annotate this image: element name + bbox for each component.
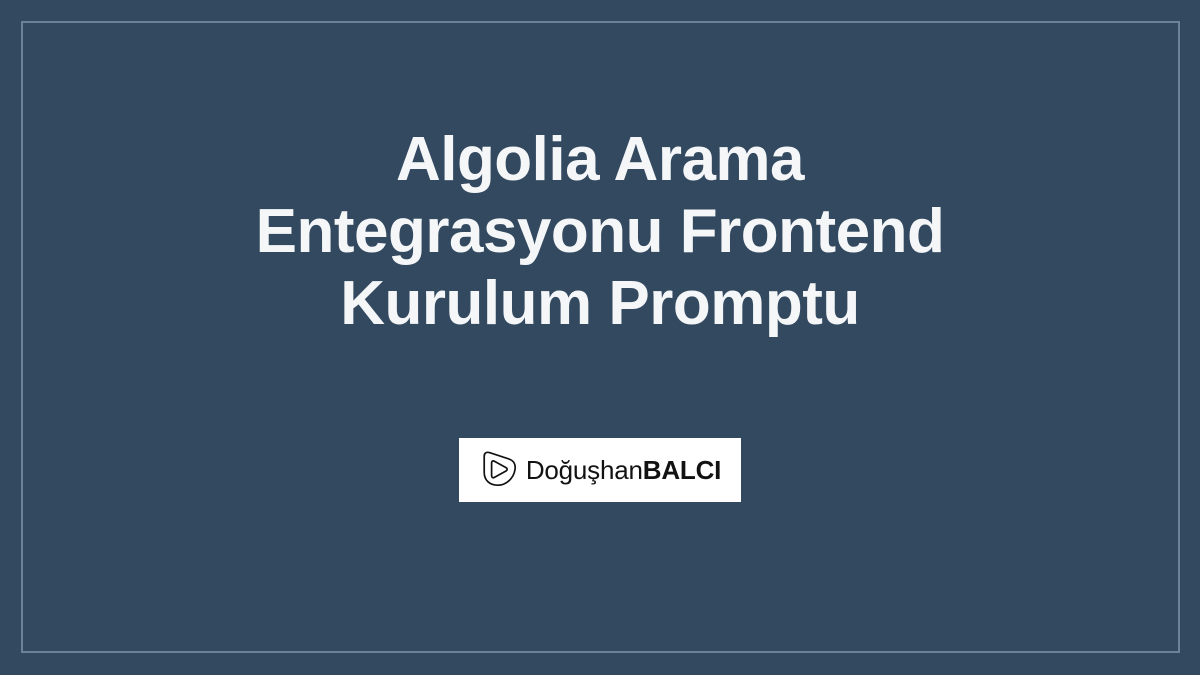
slide-content: Algolia Arama Entegrasyonu Frontend Kuru… bbox=[0, 0, 1200, 675]
logo-name-first: Doğuşhan bbox=[526, 455, 643, 485]
page-title: Algolia Arama Entegrasyonu Frontend Kuru… bbox=[160, 124, 1040, 340]
logo-name-last: BALCI bbox=[643, 455, 721, 485]
logo-badge: DoğuşhanBALCI bbox=[459, 438, 741, 502]
play-d-monogram-icon bbox=[479, 450, 517, 490]
logo-wordmark: DoğuşhanBALCI bbox=[526, 457, 721, 483]
